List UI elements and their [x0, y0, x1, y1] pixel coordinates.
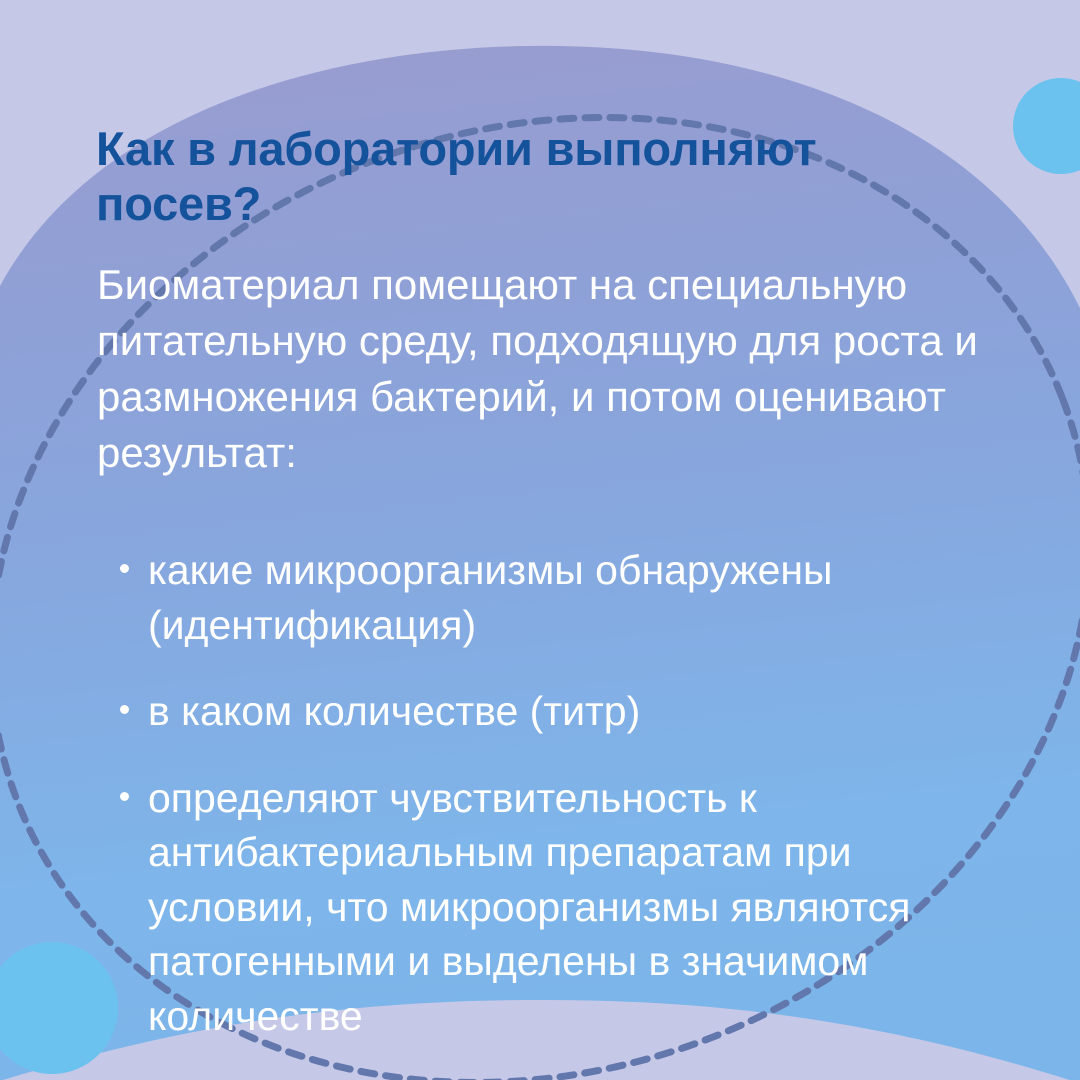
bullet-dot-icon — [120, 705, 129, 714]
bullet-dot-icon — [120, 564, 129, 573]
list-item: определяют чувствительность к антибактер… — [118, 771, 1018, 1044]
list-item: в каком количестве (титр) — [118, 684, 1018, 739]
list-item-label: определяют чувствительность к антибактер… — [148, 775, 910, 1039]
page-title: Как в лаборатории выполняют посев? — [96, 122, 956, 231]
info-card: Как в лаборатории выполняют посев? Биома… — [0, 0, 1080, 1080]
result-bullet-list: какие микроорганизмы обнаружены (идентиф… — [118, 543, 1018, 1043]
intro-paragraph: Биоматериал помещают на специальную пита… — [97, 257, 997, 480]
list-item-label: в каком количестве (титр) — [148, 688, 640, 734]
bullet-dot-icon — [120, 792, 129, 801]
list-item: какие микроорганизмы обнаружены (идентиф… — [118, 543, 1018, 652]
list-item-label: какие микроорганизмы обнаружены (идентиф… — [148, 547, 833, 648]
card-content: Как в лаборатории выполняют посев? Биома… — [0, 0, 1080, 1080]
